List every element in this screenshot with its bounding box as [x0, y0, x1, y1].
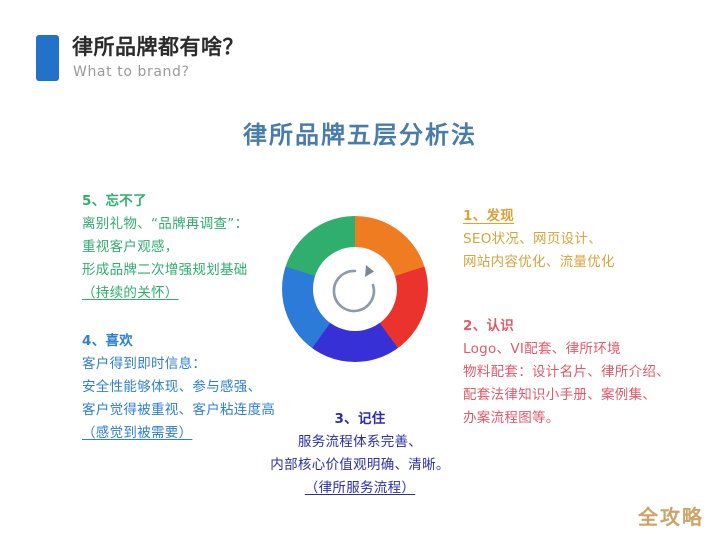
stage-4-heading: 4、喜欢 — [82, 330, 275, 353]
stage-5-line-2: 重视客户观感， — [82, 236, 248, 259]
circular-arrow-refresh-icon — [328, 260, 382, 318]
stage-2-line-2: 物料配套：设计名片、律所介绍、 — [463, 361, 670, 384]
stage-5-line-3: 形成品牌二次增强规划基础 — [82, 259, 248, 282]
page-header: 律所品牌都有啥？ What to brand? — [0, 0, 720, 100]
stage-3-text-block: 3、记住 服务流程体系完善、 内部核心价值观明确、清晰。 （律所服务流程） — [245, 408, 475, 500]
chart-title: 律所品牌五层分析法 — [0, 118, 720, 152]
stage-5-tagline: （持续的关怀） — [82, 282, 248, 305]
page-subtitle: What to brand? — [73, 62, 190, 82]
stage-5-text-block: 5、忘不了 离别礼物、“品牌再调查”： 重视客户观感， 形成品牌二次增强规划基础… — [82, 190, 248, 305]
stage-1-text-block: 1、发现 SEO状况、网页设计、 网站内容优化、流量优化 — [463, 205, 615, 274]
stage-5-line-1: 离别礼物、“品牌再调查”： — [82, 213, 248, 236]
stage-5-heading: 5、忘不了 — [82, 190, 248, 213]
stage-2-text-block: 2、认识 Logo、VI配套、律所环境 物料配套：设计名片、律所介绍、 配套法律… — [463, 315, 670, 430]
stage-3-heading: 3、记住 — [245, 408, 475, 431]
stage-2-line-1: Logo、VI配套、律所环境 — [463, 338, 670, 361]
stage-1-heading: 1、发现 — [463, 205, 615, 228]
stage-2-line-3: 配套法律知识小手册、案例集、 — [463, 384, 670, 407]
accent-bar-icon — [36, 35, 59, 81]
stage-1-line-1: SEO状况、网页设计、 — [463, 228, 615, 251]
stage-1-line-2: 网站内容优化、流量优化 — [463, 251, 615, 274]
page-title: 律所品牌都有啥？ — [72, 33, 244, 61]
stage-4-line-1: 客户得到即时信息： — [82, 353, 275, 376]
stage-3-line-2: 内部核心价值观明确、清晰。 — [245, 454, 475, 477]
donut-chart — [282, 216, 428, 362]
stage-3-line-1: 服务流程体系完善、 — [245, 431, 475, 454]
stage-3-tagline: （律所服务流程） — [245, 477, 475, 500]
stage-4-line-2: 安全性能够体现、参与感强、 — [82, 376, 275, 399]
watermark: 全攻略 — [638, 501, 704, 530]
stage-2-line-4: 办案流程图等。 — [463, 407, 670, 430]
stage-2-heading: 2、认识 — [463, 315, 670, 338]
